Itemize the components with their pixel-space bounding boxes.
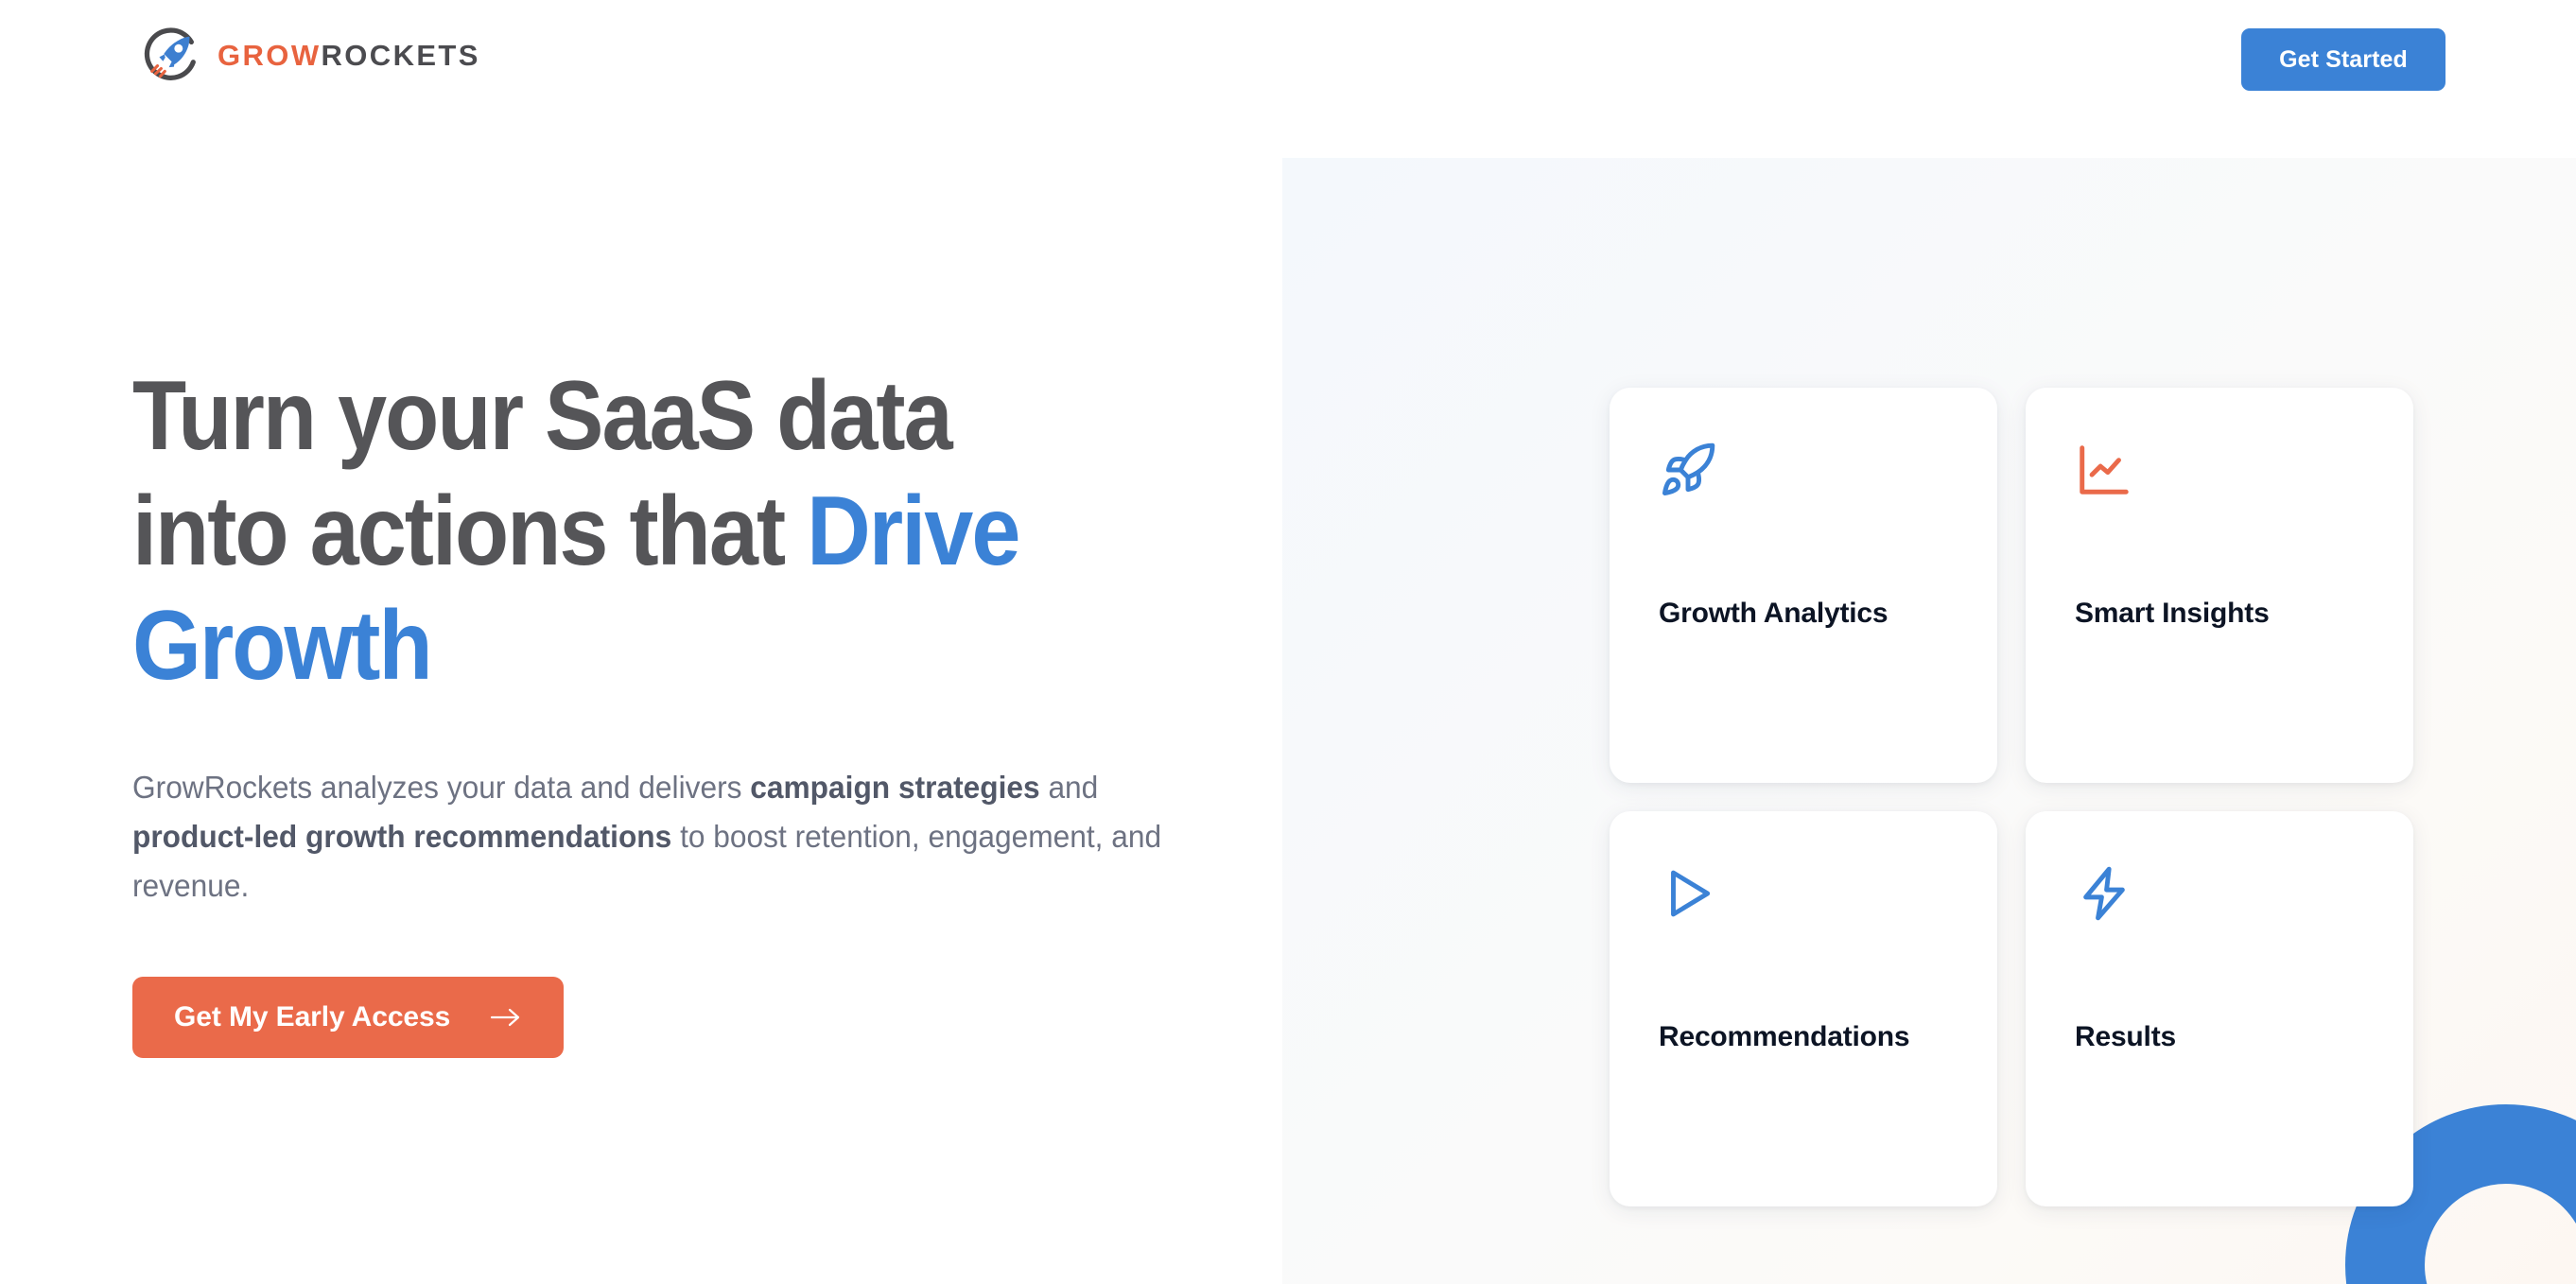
hero-section: Turn your SaaS data into actions that Dr… (132, 359, 1248, 1058)
feature-card-recommendations[interactable]: Recommendations (1610, 811, 1997, 1206)
rocket-icon (1659, 441, 1717, 499)
feature-card-results[interactable]: Results (2026, 811, 2413, 1206)
line-chart-icon (2075, 441, 2133, 499)
landing-page: GROWROCKETS Get Started Growth Analytics (0, 0, 2576, 1284)
play-icon (1659, 864, 1717, 923)
hero-headline: Turn your SaaS data into actions that Dr… (132, 359, 1137, 704)
hero-headline-accent-drive: Drive (807, 477, 1018, 586)
hero-subtitle-part1: GrowRockets analyzes your data and deliv… (132, 770, 750, 805)
site-header: GROWROCKETS Get Started (0, 0, 2576, 137)
feature-card-label: Growth Analytics (1659, 598, 1948, 630)
brand-word-grow: GROW (218, 41, 321, 70)
feature-card-label: Smart Insights (2075, 598, 2364, 630)
arrow-right-icon (490, 1006, 522, 1029)
hero-headline-accent-growth: Growth (132, 591, 431, 701)
showcase-panel: Growth Analytics Smart Insights Rec (1282, 158, 2576, 1284)
feature-card-growth-analytics[interactable]: Growth Analytics (1610, 388, 1997, 783)
early-access-button[interactable]: Get My Early Access (132, 977, 564, 1058)
get-started-button[interactable]: Get Started (2241, 28, 2445, 91)
lightning-icon (2075, 864, 2133, 923)
hero-subtitle: GrowRockets analyzes your data and deliv… (132, 763, 1186, 911)
feature-card-grid: Growth Analytics Smart Insights Rec (1610, 388, 2413, 1206)
brand-word-rockets: ROCKETS (321, 41, 479, 70)
feature-card-smart-insights[interactable]: Smart Insights (2026, 388, 2413, 783)
hero-subtitle-bold2: product-led growth recommendations (132, 819, 671, 854)
brand-wordmark: GROWROCKETS (218, 41, 480, 70)
hero-subtitle-part2: and (1040, 770, 1099, 805)
feature-card-label: Results (2075, 1021, 2364, 1053)
feature-card-label: Recommendations (1659, 1021, 1948, 1053)
hero-headline-line1: Turn your SaaS data (132, 361, 951, 471)
early-access-button-label: Get My Early Access (174, 1001, 450, 1033)
brand-logo[interactable]: GROWROCKETS (144, 25, 480, 85)
hero-subtitle-bold1: campaign strategies (750, 770, 1039, 805)
rocket-logo-icon (144, 26, 202, 84)
hero-headline-line2: into actions that (132, 477, 807, 586)
